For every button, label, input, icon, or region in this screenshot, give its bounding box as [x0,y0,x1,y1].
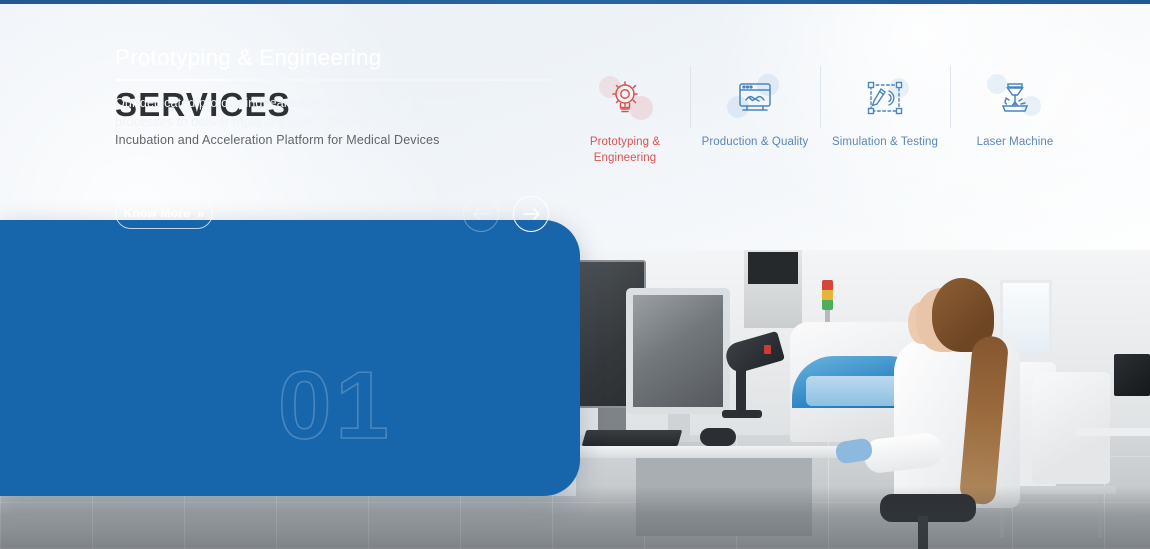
know-more-button[interactable]: Know More » [115,197,213,229]
nav-item-simulation-testing[interactable]: Simulation & Testing [820,62,950,177]
page-subtitle: Incubation and Acceleration Platform for… [115,133,440,147]
slide-divider [115,79,550,81]
photo-equipment-tower-panel [748,252,798,284]
chevron-double-right-icon: » [197,206,204,221]
photo-side-desk [1076,428,1150,436]
photo-analyzer-panel [806,376,902,406]
photo-scanner-light [764,345,771,354]
slide-navigation [463,196,549,232]
photo-monitor-main [626,288,730,414]
photo-mouse [700,428,736,446]
know-more-label: Know More [124,206,190,220]
service-nav: Prototyping & Engineering Production & Q… [560,62,1080,177]
pencil-gear-blueprint-icon [857,72,913,124]
slide-description: Our dedicated prototyping team leverages… [115,94,535,132]
next-slide-button[interactable] [513,196,549,232]
laser-cutter-icon [987,72,1043,124]
nav-item-production-quality[interactable]: Production & Quality [690,62,820,177]
slide-title: Prototyping & Engineering [115,45,381,71]
top-accent-bar [0,0,1150,4]
nav-label: Laser Machine [977,135,1054,151]
nav-label: Simulation & Testing [832,135,938,151]
nav-item-laser-machine[interactable]: Laser Machine [950,62,1080,177]
prev-slide-button[interactable] [463,196,499,232]
nav-label: Prototyping & Engineering [560,135,690,167]
handshake-window-icon [727,72,783,124]
arrow-left-icon [473,208,490,220]
photo-side-monitor [1114,354,1150,396]
slide-panel [0,220,580,496]
photo-status-beacon [822,280,833,310]
photo-keyboard [582,430,683,446]
lightbulb-gear-icon [597,72,653,124]
nav-item-prototyping-engineering[interactable]: Prototyping & Engineering [560,62,690,177]
nav-label: Production & Quality [702,135,809,151]
photo-monitor-left-stand [598,408,626,432]
arrow-right-icon [523,208,540,220]
